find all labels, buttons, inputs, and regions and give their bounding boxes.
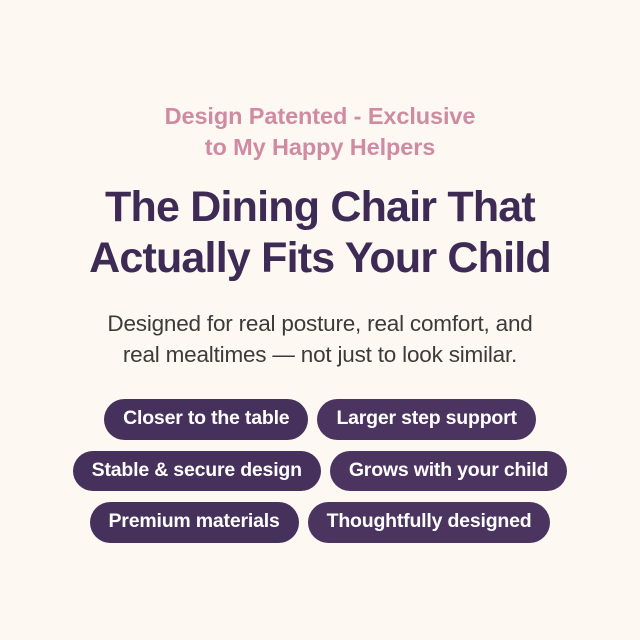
headline-line-1: The Dining Chair That — [89, 182, 551, 233]
subtitle-line-1: Designed for real posture, real comfort,… — [107, 308, 532, 339]
feature-badge-thoughtfully-designed: Thoughtfully designed — [308, 502, 551, 543]
eyebrow-line-1: Design Patented - Exclusive — [165, 101, 476, 132]
subtitle-text: Designed for real posture, real comfort,… — [107, 308, 532, 370]
feature-badge-closer-to-the-table: Closer to the table — [104, 399, 308, 440]
page-title: The Dining Chair That Actually Fits Your… — [89, 182, 551, 284]
feature-badge-row: Premium materials Thoughtfully designed — [90, 502, 551, 543]
eyebrow-line-2: to My Happy Helpers — [165, 132, 476, 163]
feature-badge-stable-secure-design: Stable & secure design — [73, 451, 321, 492]
subtitle-line-2: real mealtimes — not just to look simila… — [107, 339, 532, 370]
promo-poster: Design Patented - Exclusive to My Happy … — [0, 0, 640, 640]
feature-badge-premium-materials: Premium materials — [90, 502, 299, 543]
headline-line-2: Actually Fits Your Child — [89, 233, 551, 284]
feature-badge-larger-step-support: Larger step support — [317, 399, 535, 440]
feature-badge-row: Closer to the table Larger step support — [104, 399, 536, 440]
feature-badge-row: Stable & secure design Grows with your c… — [73, 451, 568, 492]
eyebrow-text: Design Patented - Exclusive to My Happy … — [165, 101, 476, 163]
feature-badge-grows-with-your-child: Grows with your child — [330, 451, 567, 492]
feature-badge-grid: Closer to the table Larger step support … — [73, 399, 568, 543]
